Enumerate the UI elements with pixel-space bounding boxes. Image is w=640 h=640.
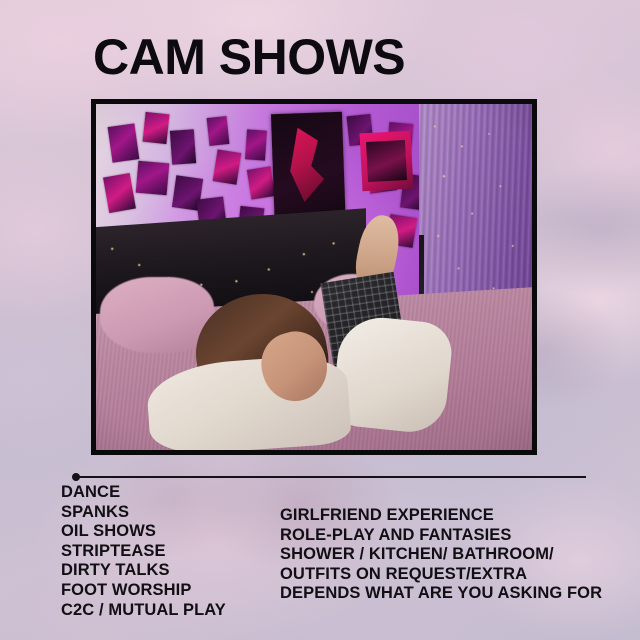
list-item: OUTFITS ON REQUEST/EXTRA xyxy=(280,565,602,585)
list-item: STRIPTEASE xyxy=(61,542,226,562)
services-list-right: GIRLFRIEND EXPERIENCE ROLE-PLAY AND FANT… xyxy=(280,506,602,604)
page-title: CAM SHOWS xyxy=(93,32,405,82)
list-item: SPANKS xyxy=(61,503,226,523)
list-item: GIRLFRIEND EXPERIENCE xyxy=(280,506,602,526)
list-item: ROLE-PLAY AND FANTASIES xyxy=(280,526,602,546)
list-item: C2C / MUTUAL PLAY xyxy=(61,601,226,621)
list-item: DIRTY TALKS xyxy=(61,561,226,581)
divider-line xyxy=(76,476,586,478)
list-item: DEPENDS WHAT ARE YOU ASKING FOR xyxy=(280,584,602,604)
services-list-left: DANCE SPANKS OIL SHOWS STRIPTEASE DIRTY … xyxy=(61,483,226,620)
photo-grain xyxy=(96,104,532,450)
list-item: FOOT WORSHIP xyxy=(61,581,226,601)
poster-canvas: CAM SHOWS xyxy=(0,0,640,640)
list-item: SHOWER / KITCHEN/ BATHROOM/ xyxy=(280,545,602,565)
list-item: DANCE xyxy=(61,483,226,503)
photo-content xyxy=(96,104,532,450)
bedroom-cam-photo xyxy=(91,99,537,455)
list-item: OIL SHOWS xyxy=(61,522,226,542)
